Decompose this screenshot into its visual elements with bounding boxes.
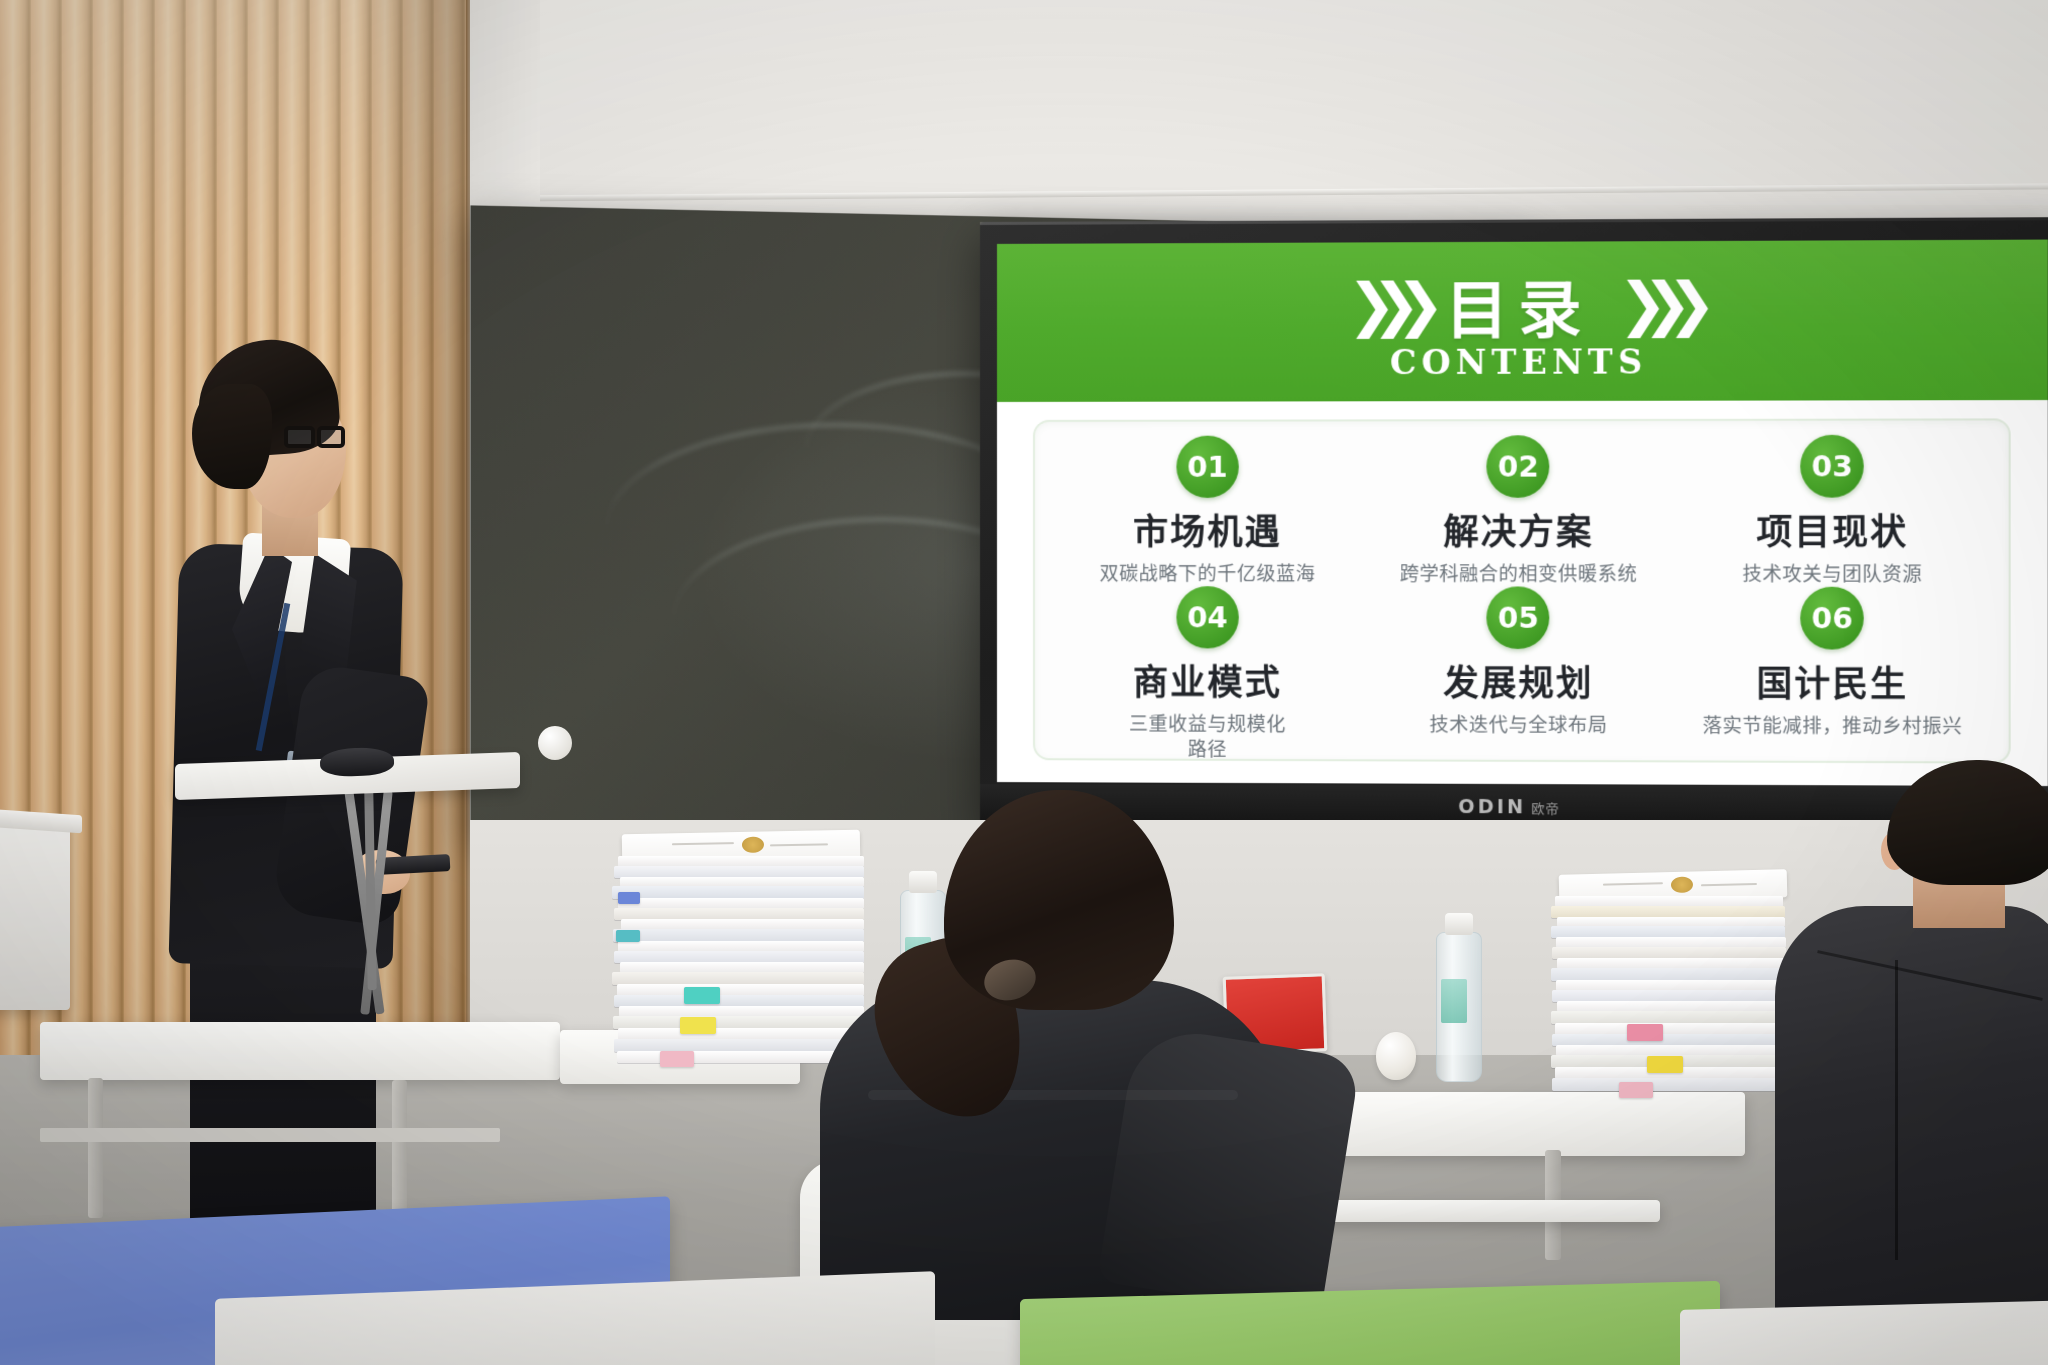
sticky-tab-blue: [618, 892, 640, 904]
toc-desc-05: 技术迭代与全球布局: [1373, 713, 1663, 738]
display-brand-logo: ODIN 欧帝: [1458, 796, 1559, 819]
chevron-right-icon: ❯❯❯: [1618, 278, 1690, 331]
slide-subtitle: CONTENTS: [997, 341, 2048, 383]
toc-badge-02: 02: [1487, 435, 1550, 498]
seated-man-right: [1795, 760, 2048, 1360]
toc-desc-02: 跨学科融合的相变供暖系统: [1373, 562, 1663, 587]
toc-desc-01: 双碳战略下的千亿级蓝海: [1064, 562, 1352, 587]
toc-badge-05: 05: [1487, 587, 1550, 650]
cover-text-line: [770, 843, 828, 846]
seated-woman: [828, 790, 1348, 1310]
upper-wall-band: [440, 0, 2048, 205]
toc-item-02[interactable]: 02 解决方案 跨学科融合的相变供暖系统: [1373, 435, 1663, 587]
water-bottle-right[interactable]: [1436, 932, 1482, 1082]
toc-title-05: 发展规划: [1373, 655, 1663, 707]
man-jacket: [1775, 906, 2048, 1365]
glasses-icon: [284, 426, 352, 452]
side-cabinet: [0, 820, 70, 1010]
toc-title-06: 国计民生: [1686, 656, 1979, 708]
classroom-scene: ❯❯❯ 目录 ❯❯❯ CONTENTS 01 市场机遇: [0, 0, 2048, 1365]
slide-content-card: 01 市场机遇 双碳战略下的千亿级蓝海 02 解决方案 跨学科融合的相变供暖系统…: [1033, 418, 2011, 763]
document-stack-right: [1551, 872, 1791, 1112]
man-hair: [1887, 760, 2048, 885]
woman-shoulder-arm: [1097, 1024, 1361, 1316]
sticky-tab-pink: [1627, 1024, 1663, 1041]
toc-desc-04: 三重收益与规模化路径: [1064, 713, 1352, 763]
toc-desc-06: 落实节能减排，推动乡村振兴: [1686, 714, 1979, 739]
white-sphere-ornament: [538, 726, 572, 760]
bottle-label: [1441, 979, 1467, 1023]
toc-item-04[interactable]: 04 商业模式 三重收益与规模化路径: [1064, 586, 1352, 762]
toc-row-top: 01 市场机遇 双碳战略下的千亿级蓝海 02 解决方案 跨学科融合的相变供暖系统…: [1053, 435, 1990, 588]
toc-item-01[interactable]: 01 市场机遇 双碳战略下的千亿级蓝海: [1064, 436, 1352, 587]
toc-row-bottom: 04 商业模式 三重收益与规模化路径 05 发展规划 技术迭代与全球布局 06 …: [1053, 586, 1990, 764]
presentation-slide: ❯❯❯ 目录 ❯❯❯ CONTENTS 01 市场机遇: [997, 240, 2048, 786]
toc-title-04: 商业模式: [1064, 654, 1352, 706]
toc-desc-03: 技术攻关与团队资源: [1686, 562, 1979, 587]
sticky-tab-yellow: [680, 1017, 716, 1034]
sticky-tab-yellow: [1647, 1056, 1683, 1073]
toc-badge-03: 03: [1800, 435, 1864, 498]
toc-item-06[interactable]: 06 国计民生 落实节能减排，推动乡村振兴: [1686, 587, 1979, 740]
table-leg: [88, 1078, 103, 1218]
presenter-hair-side: [192, 384, 272, 489]
sticky-tab-pink: [1619, 1082, 1653, 1098]
toc-badge-01: 01: [1176, 436, 1238, 498]
student-desk-white-front-right: [1680, 1300, 2048, 1365]
toc-title-02: 解决方案: [1373, 504, 1663, 556]
cover-text-line: [1701, 883, 1757, 886]
display-screen[interactable]: ❯❯❯ 目录 ❯❯❯ CONTENTS 01 市场机遇: [997, 240, 2048, 786]
sticky-tab-teal: [684, 987, 720, 1004]
jacket-seam: [1895, 960, 1898, 1260]
table-leg: [392, 1080, 407, 1220]
slide-title-row: ❯❯❯ 目录 ❯❯❯: [997, 258, 2048, 352]
interactive-smart-display[interactable]: ❯❯❯ 目录 ❯❯❯ CONTENTS 01 市场机遇: [980, 217, 2048, 835]
tripod-stand: [300, 790, 460, 1020]
table-shelf-bar: [40, 1128, 500, 1142]
cover-text-line: [1603, 882, 1663, 885]
cover-text-line: [672, 842, 734, 845]
table-left-back: [40, 1022, 560, 1080]
sticky-tab-teal: [616, 930, 640, 942]
toc-item-03[interactable]: 03 项目现状 技术攻关与团队资源: [1686, 435, 1979, 588]
cover-emblem: [1671, 877, 1693, 894]
bottle-cap: [1445, 913, 1473, 935]
toc-title-03: 项目现状: [1686, 504, 1979, 556]
cover-emblem: [742, 837, 764, 853]
toc-title-01: 市场机遇: [1064, 504, 1352, 555]
brand-mark-cn: 欧帝: [1531, 798, 1559, 817]
brand-mark-text: ODIN: [1458, 796, 1526, 818]
chevron-left-icon: ❯❯❯: [1347, 279, 1419, 332]
toc-badge-06: 06: [1800, 587, 1864, 650]
white-sphere-ornament: [1376, 1032, 1416, 1080]
toc-badge-04: 04: [1176, 586, 1238, 648]
slide-title: 目录: [1445, 260, 1591, 351]
toc-item-05[interactable]: 05 发展规划 技术迭代与全球布局: [1373, 587, 1663, 739]
woman-hair: [944, 790, 1174, 1010]
sticky-tab-pink: [660, 1051, 694, 1067]
slide-header-band: ❯❯❯ 目录 ❯❯❯ CONTENTS: [997, 240, 2048, 402]
